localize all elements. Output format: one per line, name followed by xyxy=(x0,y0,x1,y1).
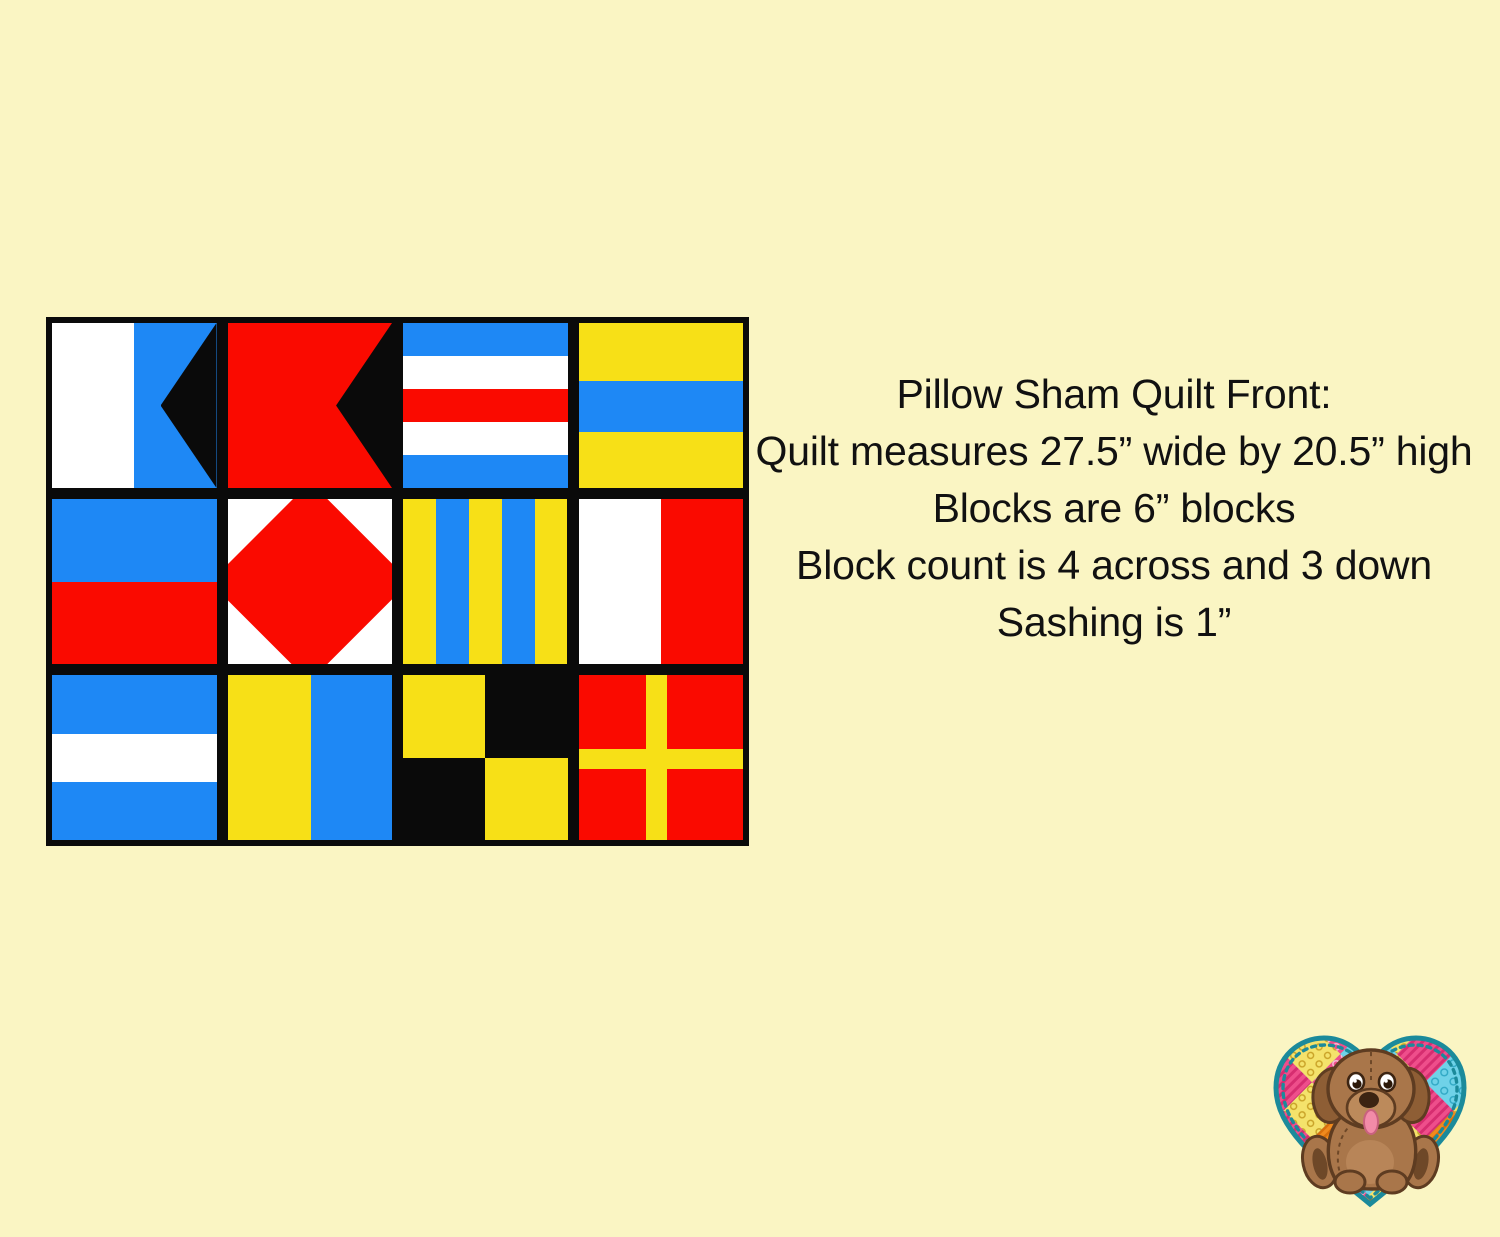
juliet-stripe-3 xyxy=(52,782,217,840)
quilt-block-hotel xyxy=(579,499,744,664)
signal-flag-romeo xyxy=(579,675,744,840)
signal-flag-kilo xyxy=(228,675,393,840)
juliet-stripe-2 xyxy=(52,734,217,782)
quilt-block-delta xyxy=(579,323,744,488)
caption-measurement: Quilt measures 27.5” wide by 20.5” high xyxy=(755,423,1473,480)
caption-block-size: Blocks are 6” blocks xyxy=(755,480,1473,537)
alpha-white-half xyxy=(52,323,134,488)
logo-puppy-tongue xyxy=(1364,1110,1378,1134)
caption-sashing: Sashing is 1” xyxy=(755,594,1473,651)
quilt-block-lima xyxy=(403,675,568,840)
golf-stripe-1 xyxy=(403,499,436,664)
lima-quad-top-right xyxy=(485,675,567,758)
delta-stripe-2 xyxy=(579,381,744,432)
echo-blue-half xyxy=(52,499,217,582)
romeo-cross-horizontal xyxy=(579,749,744,769)
quilt-block-charlie xyxy=(403,323,568,488)
quilt-block-echo xyxy=(52,499,217,664)
kilo-blue-half xyxy=(311,675,392,840)
quilt-block-grid xyxy=(52,323,743,840)
charlie-stripe-1 xyxy=(403,323,568,356)
signal-flag-hotel xyxy=(579,499,744,664)
quilt-block-bravo xyxy=(228,323,393,488)
charlie-stripe-2 xyxy=(403,356,568,389)
charlie-stripe-3 xyxy=(403,389,568,422)
golf-stripe-2 xyxy=(436,499,469,664)
charlie-stripe-4 xyxy=(403,422,568,455)
signal-flag-foxtrot xyxy=(228,499,393,664)
juliet-stripe-1 xyxy=(52,675,217,734)
signal-flag-juliet xyxy=(52,675,217,840)
quilt-image xyxy=(46,317,749,846)
signal-flag-lima xyxy=(403,675,568,840)
delta-stripe-3 xyxy=(579,432,744,488)
quilt-block-golf xyxy=(403,499,568,664)
caption-block-count: Block count is 4 across and 3 down xyxy=(755,537,1473,594)
quilt-block-foxtrot xyxy=(228,499,393,664)
quilt-block-romeo xyxy=(579,675,744,840)
golf-stripe-5 xyxy=(535,499,568,664)
logo-puppy-nose xyxy=(1359,1092,1379,1108)
kilo-yellow-half xyxy=(228,675,312,840)
charlie-stripe-5 xyxy=(403,455,568,488)
signal-flag-bravo xyxy=(228,323,393,488)
signal-flag-charlie xyxy=(403,323,568,488)
quilt-block-kilo xyxy=(228,675,393,840)
echo-red-half xyxy=(52,582,217,665)
caption-title: Pillow Sham Quilt Front: xyxy=(755,366,1473,423)
quilt-block-alpha xyxy=(52,323,217,488)
signal-flag-delta xyxy=(579,323,744,488)
hotel-red-half xyxy=(661,499,743,664)
lima-quad-bottom-left xyxy=(403,758,485,841)
lima-quad-top-left xyxy=(403,675,485,758)
patchwork-heart-puppy-logo xyxy=(1258,1012,1483,1212)
signal-flag-echo xyxy=(52,499,217,664)
lima-quad-bottom-right xyxy=(485,758,567,841)
golf-stripe-3 xyxy=(469,499,502,664)
signal-flag-alpha xyxy=(52,323,217,488)
signal-flag-golf xyxy=(403,499,568,664)
quilt-block-juliet xyxy=(52,675,217,840)
hotel-white-half xyxy=(579,499,661,664)
golf-stripe-4 xyxy=(502,499,535,664)
quilt-description-text: Pillow Sham Quilt Front: Quilt measures … xyxy=(755,366,1473,651)
logo-svg xyxy=(1258,1012,1483,1212)
delta-stripe-1 xyxy=(579,323,744,381)
